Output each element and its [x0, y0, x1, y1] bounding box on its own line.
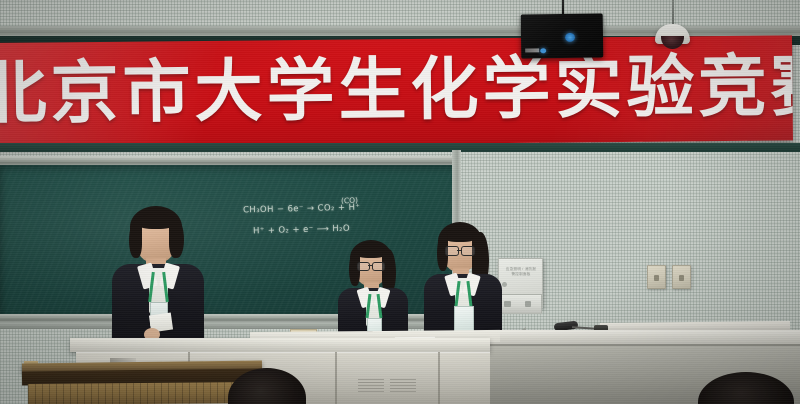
desk-panel-seam — [438, 352, 440, 404]
competition-banner: 北京市大学生化学实验竞赛 — [0, 35, 793, 148]
glasses-lens-right-icon — [372, 262, 385, 271]
glasses-lens-right-icon — [461, 246, 475, 256]
wall-socket-right[interactable] — [672, 265, 691, 289]
podium-desk-top — [70, 338, 490, 352]
speaker-led-icon — [565, 33, 575, 42]
socket-holes-icon — [654, 275, 659, 281]
glasses-bridge-icon — [457, 250, 461, 251]
desk-vent — [390, 378, 416, 392]
banner-title: 北京市大学生化学实验竞赛 — [0, 39, 793, 143]
glasses-lens-left-icon — [357, 262, 370, 271]
desk-panel-seam — [335, 352, 337, 404]
lecture-hall-photo: 北京市大学生化学实验竞赛 (CO) CH₃OH − 6e⁻ → CO₂ + H⁺… — [0, 0, 800, 404]
hair-side-right — [169, 218, 184, 258]
speaker-power-led-icon — [540, 48, 546, 53]
control-panel-lower-box[interactable] — [499, 294, 542, 314]
desk-vent — [358, 378, 384, 392]
speaker-brand-label — [525, 48, 539, 52]
control-panel-indicator-icon — [502, 282, 507, 287]
glasses-lens-left-icon — [445, 246, 459, 256]
panel-button-icon[interactable] — [504, 301, 511, 307]
lectern-body — [28, 382, 260, 404]
camera-cable — [672, 0, 674, 26]
glasses-bridge-icon — [368, 265, 372, 266]
control-panel-label: 应急照明 / 消防报警控制面板 — [505, 267, 537, 277]
wall-socket-left[interactable] — [647, 265, 666, 289]
socket-holes-icon — [679, 275, 684, 281]
banner-lower-edge — [0, 143, 800, 152]
speaker-box — [521, 13, 604, 58]
panel-button-secondary-icon[interactable] — [525, 301, 531, 307]
hair-side-left — [129, 220, 142, 258]
